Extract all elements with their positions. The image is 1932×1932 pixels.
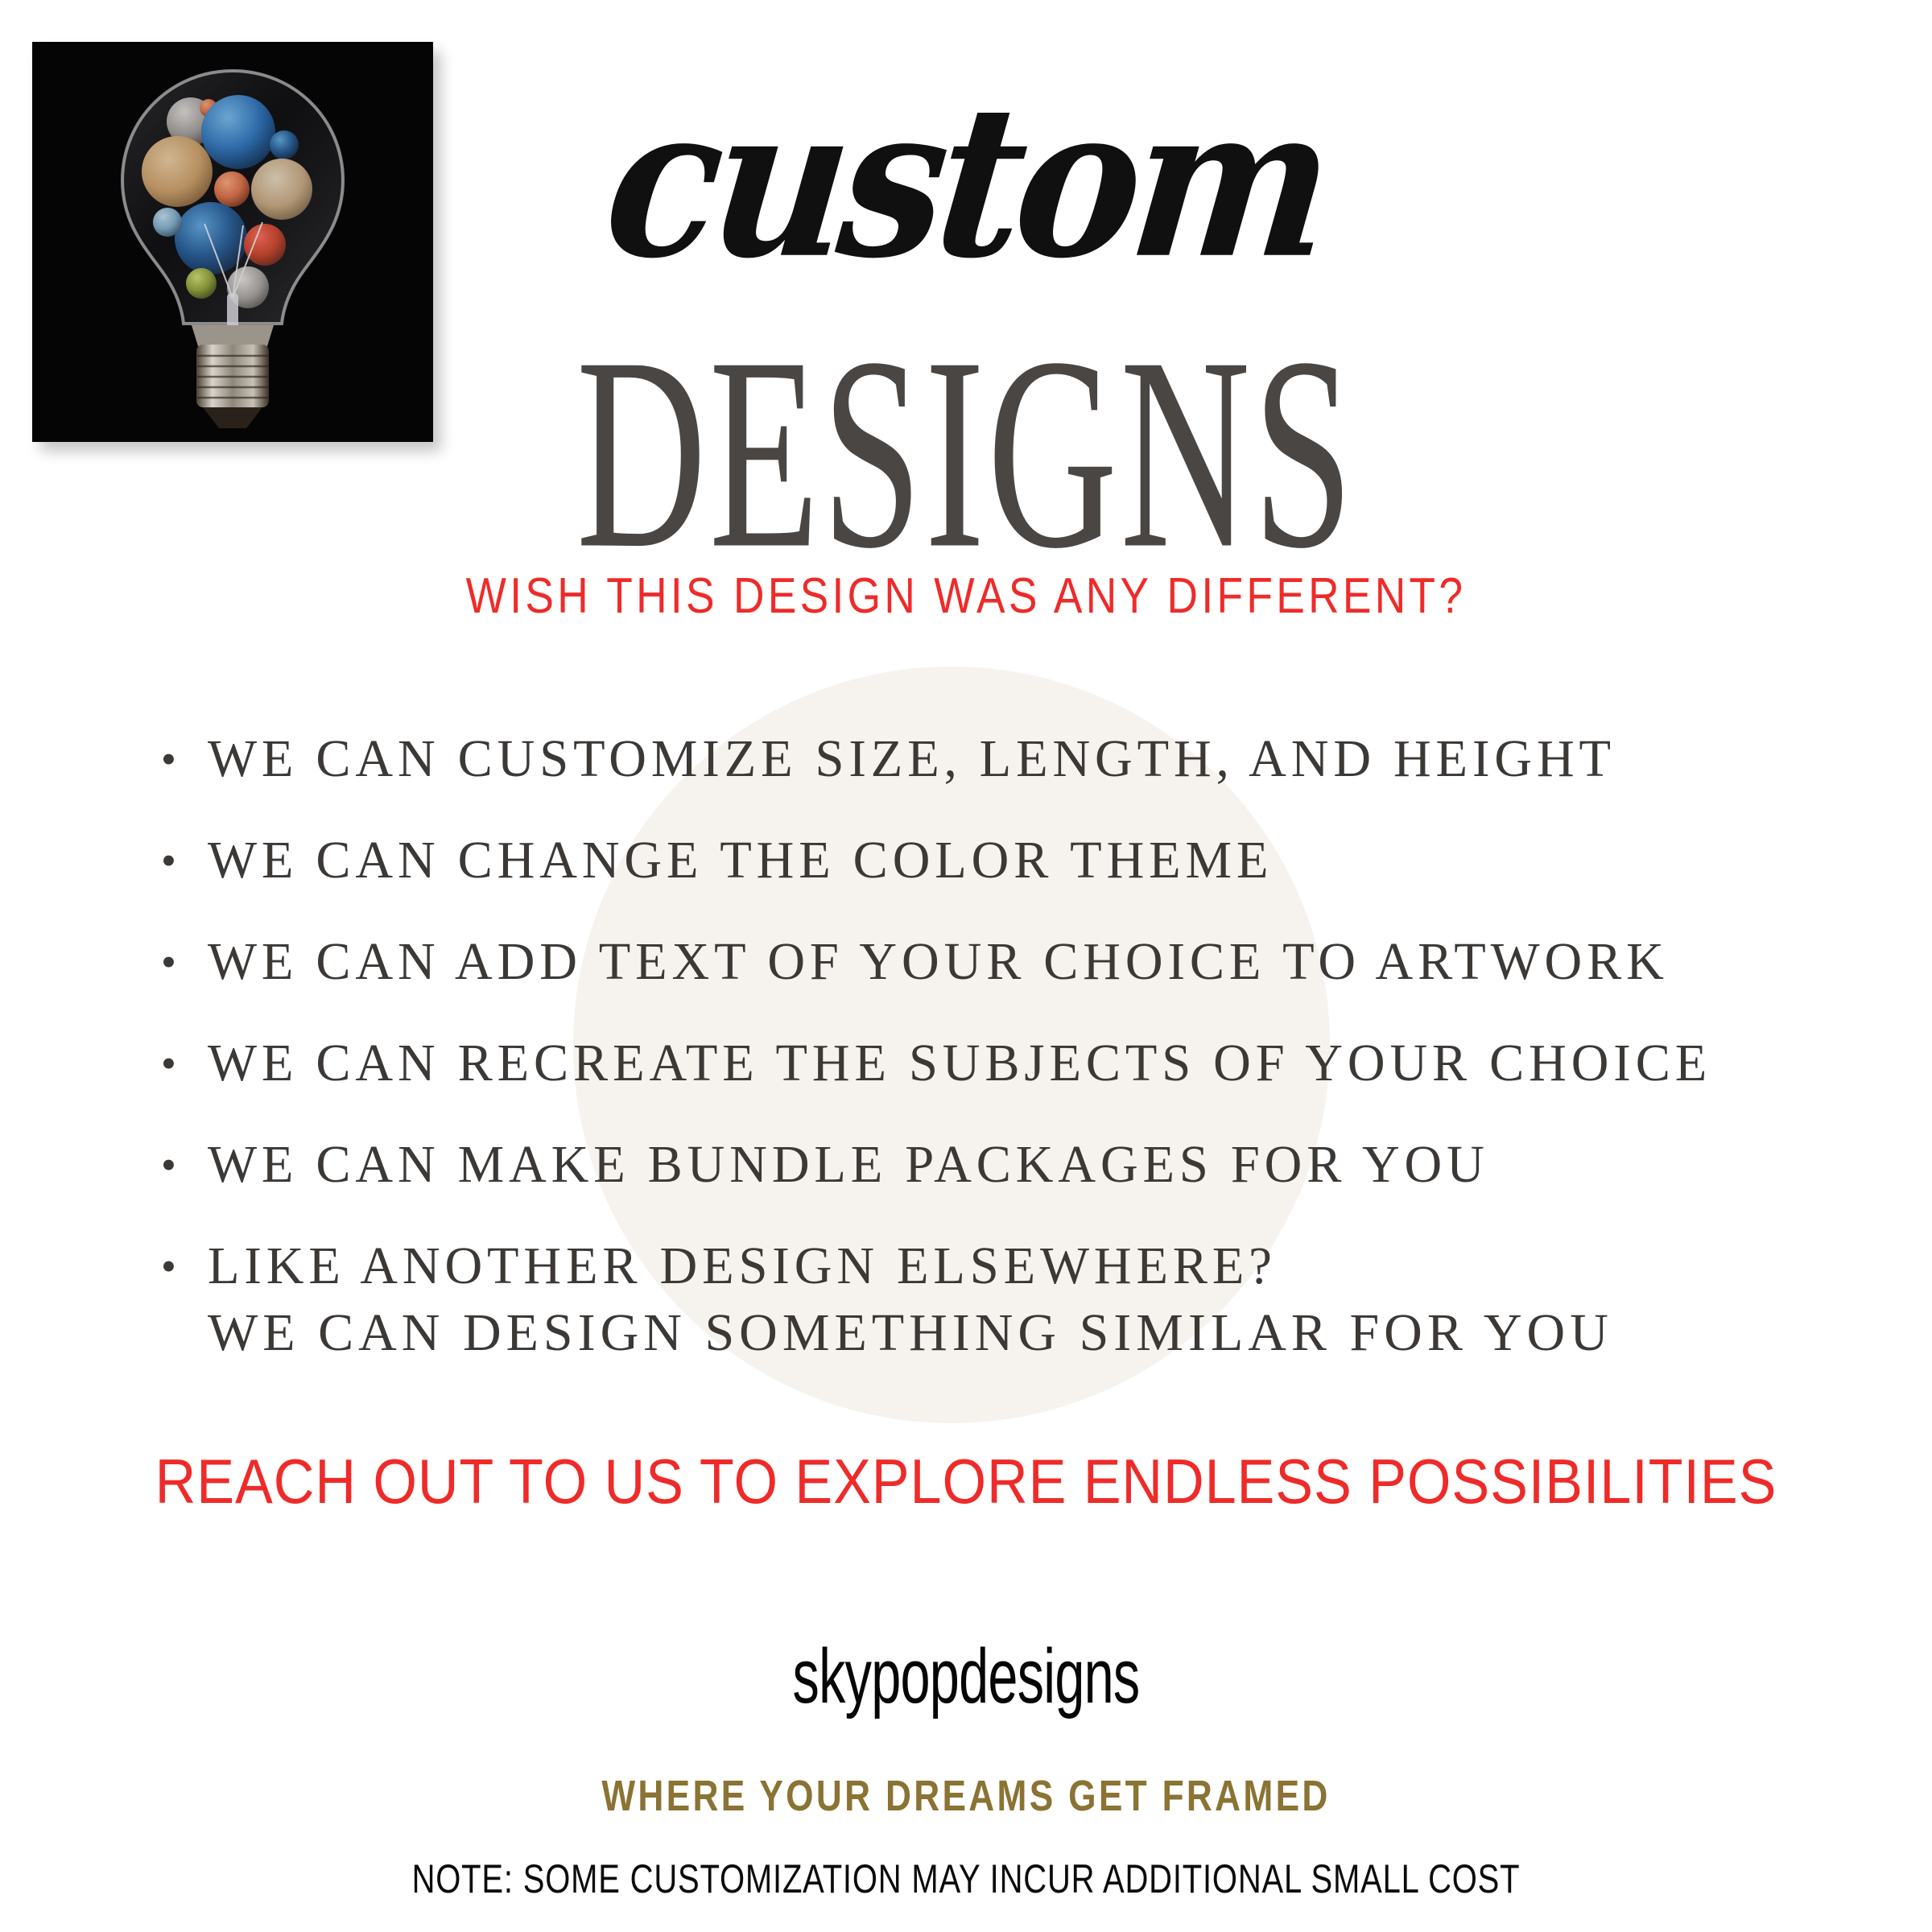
brand-tagline: WHERE YOUR DREAMS GET FRAMED: [174, 1771, 1758, 1821]
brand-logo-text: skypopdesigns: [251, 1633, 1681, 1721]
list-item-label: LIKE ANOTHER DESIGN ELSEWHERE?: [208, 1236, 1277, 1297]
list-item: • WE CAN CHANGE THE COLOR THEME: [161, 810, 1868, 911]
lightbulb-with-planets-icon: [32, 42, 433, 442]
bullet-icon: •: [161, 1143, 208, 1187]
bullet-icon: •: [161, 839, 208, 882]
list-item-label: WE CAN CUSTOMIZE SIZE, LENGTH, AND HEIGH…: [208, 729, 1616, 790]
bullet-icon: •: [161, 737, 208, 781]
list-item-label: WE CAN CHANGE THE COLOR THEME: [208, 830, 1273, 891]
list-item-continuation: WE CAN DESIGN SOMETHING SIMILAR FOR YOU: [208, 1302, 1613, 1364]
call-to-action-text: REACH OUT TO US TO EXPLORE ENDLESS POSSI…: [97, 1445, 1835, 1517]
bullet-icon: •: [161, 940, 208, 984]
list-item-label: WE CAN ADD TEXT OF YOUR CHOICE TO ARTWOR…: [208, 931, 1669, 993]
product-artwork-thumbnail[interactable]: [32, 42, 433, 442]
list-item-label: WE CAN RECREATE THE SUBJECTS OF YOUR CHO…: [208, 1033, 1711, 1094]
footer-note: NOTE: SOME CUSTOMIZATION MAY INCUR ADDIT…: [193, 1856, 1739, 1902]
bullet-icon: •: [161, 1042, 208, 1085]
list-item: • WE CAN CUSTOMIZE SIZE, LENGTH, AND HEI…: [161, 708, 1868, 810]
page-subtitle: WISH THIS DESIGN WAS ANY DIFFERENT?: [135, 568, 1797, 625]
list-item-label: WE CAN MAKE BUNDLE PACKAGES FOR YOU: [208, 1134, 1489, 1195]
list-item: • WE CAN MAKE BUNDLE PACKAGES FOR YOU: [161, 1114, 1868, 1216]
list-item: • WE CAN ADD TEXT OF YOUR CHOICE TO ARTW…: [161, 911, 1868, 1013]
benefits-list: • WE CAN CUSTOMIZE SIZE, LENGTH, AND HEI…: [161, 708, 1868, 1317]
list-item: • WE CAN RECREATE THE SUBJECTS OF YOUR C…: [161, 1013, 1868, 1114]
bullet-icon: •: [161, 1245, 208, 1288]
